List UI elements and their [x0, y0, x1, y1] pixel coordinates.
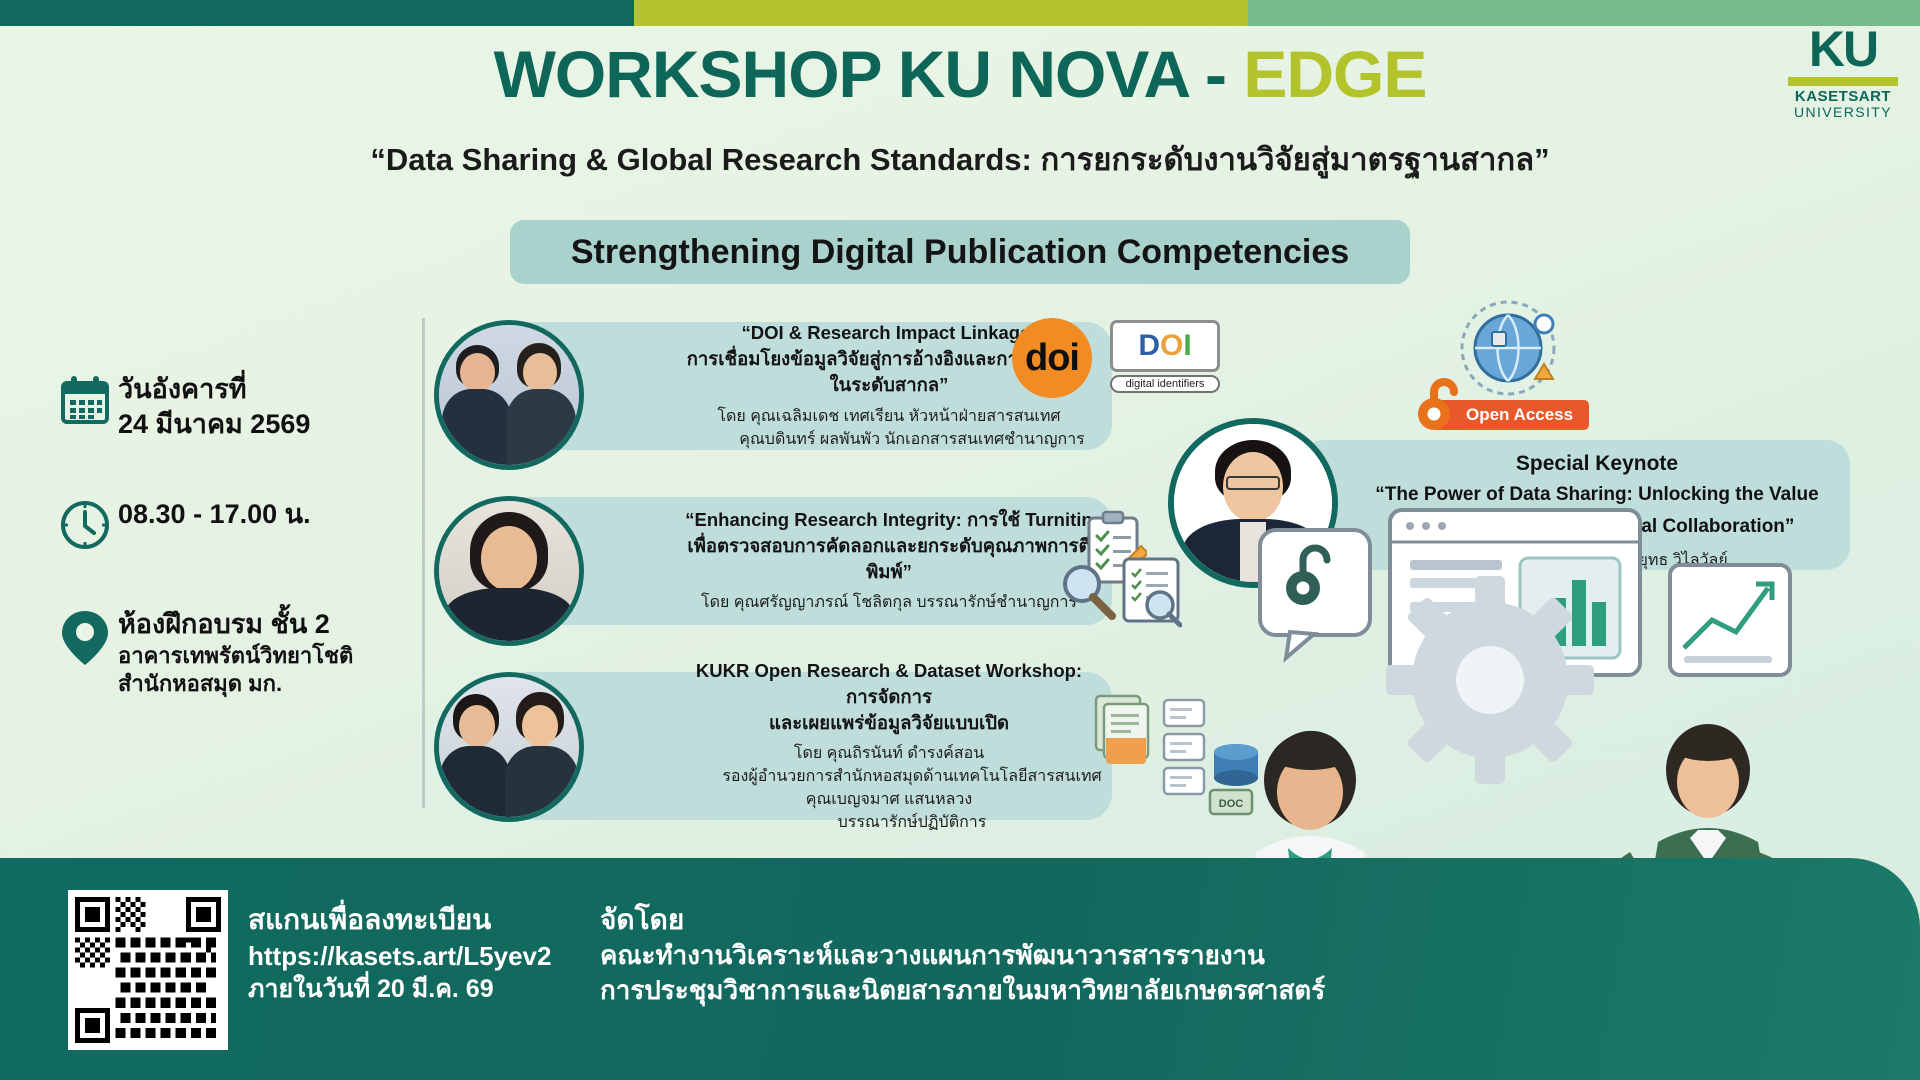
session-card-2: “Enhancing Research Integrity: การใช้ Tu…: [500, 497, 1112, 625]
event-detail-date-text: วันอังคารที่ 24 มีนาคม 2569: [118, 372, 310, 441]
event-details-list: วันอังคารที่ 24 มีนาคม 2569 08.30 - 17.0…: [52, 372, 382, 755]
organizer-line-1: คณะทำงานวิเคราะห์และวางแผนการพัฒนาวารสาร…: [600, 938, 1325, 973]
session-3-speaker-photo: [434, 672, 584, 822]
document-scan-icon: [1120, 555, 1182, 629]
page-title: WORKSHOP KU NOVA - EDGE: [0, 36, 1920, 112]
event-date-line1: วันอังคารที่: [118, 372, 310, 407]
session-2-title-line1: “Enhancing Research Integrity: การใช้ Tu…: [685, 507, 1092, 533]
session-rail-divider: [422, 318, 425, 808]
doi-logo-circle: doi: [1012, 318, 1092, 398]
page-title-main: WORKSHOP KU NOVA -: [494, 37, 1244, 111]
organizer-line-2: การประชุมวิชาการและนิตยสารภายในมหาวิทยาล…: [600, 973, 1325, 1008]
session-2-content: “Enhancing Research Integrity: การใช้ Tu…: [680, 497, 1098, 625]
event-detail-location: ห้องฝึกอบรม ชั้น 2 อาคารเทพรัตน์วิทยาโชต…: [52, 607, 382, 699]
topbar-segment-olive: [634, 0, 1248, 26]
open-access-lock-icon: [1418, 376, 1466, 434]
event-location-line1: ห้องฝึกอบรม ชั้น 2: [118, 607, 353, 642]
session-3-speakers: โดย คุณถิรนันท์ ดำรงค์สอน รองผู้อำนวยการ…: [676, 743, 1101, 834]
session-1-speaker-1: โดย คุณเฉลิมเดช เทศเรียน หัวหน้าฝ่ายสารส…: [693, 406, 1085, 429]
session-3-content: KUKR Open Research & Dataset Workshop: ก…: [680, 672, 1098, 820]
session-1-speaker-photo: [434, 320, 584, 470]
doi-badge-letters: DOI: [1138, 331, 1191, 361]
open-access-badge: Open Access: [1432, 398, 1589, 431]
doi-digital-identifiers-badge: DOI digital identifiers: [1110, 320, 1220, 395]
competency-banner-text: Strengthening Digital Publication Compet…: [571, 233, 1349, 272]
organizer-block: จัดโดย คณะทำงานวิเคราะห์และวางแผนการพัฒน…: [600, 902, 1325, 1008]
calendar-icon: [52, 372, 118, 426]
session-1-title-line1: “DOI & Research Impact Linkage:: [741, 320, 1036, 346]
registration-heading: สแกนเพื่อลงทะเบียน: [248, 902, 551, 939]
session-2-title-line2: เพื่อตรวจสอบการคัดลอกและยกระดับคุณภาพการ…: [680, 533, 1098, 585]
doi-badge-caption: digital identifiers: [1110, 375, 1220, 393]
location-pin-icon: [52, 607, 118, 667]
session-3-speaker-2-role: บรรณารักษ์ปฏิบัติการ: [676, 812, 1101, 835]
top-color-bar: [0, 0, 1920, 26]
svg-text:DOC: DOC: [1219, 798, 1244, 810]
registration-url[interactable]: https://kasets.art/L5yev2: [248, 939, 551, 973]
doi-logo-text: doi: [1025, 337, 1079, 380]
keynote-title-line1: “The Power of Data Sharing: Unlocking th…: [1362, 482, 1832, 508]
session-1-speaker-2: คุณบดินทร์ ผลพันพัว นักเอกสารสนเทศชำนาญก…: [693, 429, 1085, 452]
event-date-line2: 24 มีนาคม 2569: [118, 407, 310, 442]
event-location-line2: อาคารเทพรัตน์วิทยาโชติ: [118, 642, 353, 671]
session-1-speakers: โดย คุณเฉลิมเดช เทศเรียน หัวหน้าฝ่ายสารส…: [693, 406, 1085, 451]
session-2-speakers: โดย คุณศรัญญาภรณ์ โชลิตกุล บรรณารักษ์ชำน…: [701, 592, 1077, 615]
topbar-segment-dark-teal: [0, 0, 634, 26]
session-2-speaker-photo: [434, 496, 584, 646]
registration-deadline: ภายในวันที่ 20 มี.ค. 69: [248, 973, 551, 1006]
registration-block: สแกนเพื่อลงทะเบียน https://kasets.art/L5…: [248, 902, 551, 1006]
clock-icon: [52, 497, 118, 551]
keynote-card: Special Keynote “The Power of Data Shari…: [1300, 440, 1850, 570]
session-3-title-line1: KUKR Open Research & Dataset Workshop: ก…: [680, 658, 1098, 710]
keynote-content: Special Keynote “The Power of Data Shari…: [1362, 452, 1832, 573]
session-3-speaker-2: คุณเบญจมาศ แสนหลวง: [676, 789, 1101, 812]
competency-banner: Strengthening Digital Publication Compet…: [510, 220, 1410, 284]
event-location-line3: สำนักหอสมุด มก.: [118, 670, 353, 699]
event-detail-date: วันอังคารที่ 24 มีนาคม 2569: [52, 372, 382, 441]
footer-bar: สแกนเพื่อลงทะเบียน https://kasets.art/L5…: [0, 858, 1920, 1080]
page-title-accent: EDGE: [1243, 37, 1426, 111]
organizer-heading: จัดโดย: [600, 902, 1325, 938]
keynote-title-line2: of Open Research for Global Collaboratio…: [1362, 514, 1832, 540]
keynote-speaker-photo: [1168, 418, 1338, 588]
event-detail-time-text: 08.30 - 17.00 น.: [118, 497, 311, 532]
globe-network-icon: [1448, 290, 1568, 410]
session-3-speaker-1-role: รองผู้อำนวยการสำนักหอสมุดด้านเทคโนโลยีสา…: [676, 766, 1101, 789]
page-subtitle: “Data Sharing & Global Research Standard…: [0, 134, 1920, 184]
session-3-speaker-1: โดย คุณถิรนันท์ ดำรงค์สอน: [676, 743, 1101, 766]
session-3-title-line2: และเผยแพร่ข้อมูลวิจัยแบบเปิด: [769, 710, 1009, 736]
session-card-3: KUKR Open Research & Dataset Workshop: ก…: [500, 672, 1112, 820]
dataset-files-icon-cluster: DOC: [1090, 690, 1270, 820]
magnifier-icon: [1056, 560, 1118, 622]
session-2-speaker-1: โดย คุณศรัญญาภรณ์ โชลิตกุล บรรณารักษ์ชำน…: [701, 592, 1077, 615]
event-detail-location-text: ห้องฝึกอบรม ชั้น 2 อาคารเทพรัตน์วิทยาโชต…: [118, 607, 353, 699]
event-time-line1: 08.30 - 17.00 น.: [118, 497, 311, 532]
keynote-speaker: โดย ศาสตราจารย์ ดร.ธีรยุทธ วิไลวัลย์: [1362, 548, 1832, 573]
doi-badge-screen: DOI: [1110, 320, 1220, 372]
registration-qr-code[interactable]: [68, 890, 228, 1050]
keynote-label: Special Keynote: [1362, 452, 1832, 476]
event-detail-time: 08.30 - 17.00 น.: [52, 497, 382, 551]
